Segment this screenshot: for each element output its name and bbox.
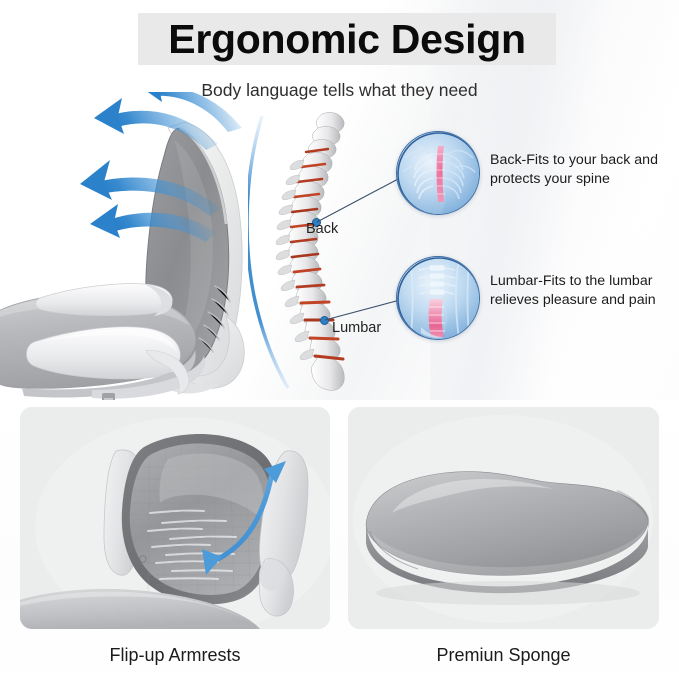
gas-cylinder bbox=[104, 398, 113, 400]
mesh-chair-back-icon bbox=[20, 407, 330, 629]
spine-anatomy-illustration bbox=[248, 108, 368, 393]
spine-label-back: Back bbox=[306, 221, 338, 237]
callout-text-lumbar: Lumbar-Fits to the lumbar relieves pleas… bbox=[490, 272, 679, 310]
feature-panel-armrests bbox=[20, 407, 330, 629]
infographic-root: Ergonomic Design Body language tells wha… bbox=[0, 0, 679, 692]
airflow-arrow-3 bbox=[80, 160, 220, 216]
feature-panel-sponge bbox=[348, 407, 659, 629]
feature-caption-armrests: Flip-up Armrests bbox=[20, 645, 330, 666]
seat-cushion-icon bbox=[348, 407, 659, 629]
vertebral-column bbox=[276, 112, 344, 390]
feature-caption-sponge: Premiun Sponge bbox=[348, 645, 659, 666]
spine-lumbar-xray-icon bbox=[396, 256, 480, 340]
callout-text-back: Back-Fits to your back and protects your… bbox=[490, 151, 679, 189]
airflow-arrows bbox=[30, 92, 260, 272]
airflow-arrow-4 bbox=[90, 204, 216, 242]
page-title: Ergonomic Design bbox=[138, 10, 556, 68]
spine-label-lumbar: Lumbar bbox=[332, 320, 381, 336]
spine-marker-lumbar-dot bbox=[320, 316, 329, 325]
spine-thoracic-xray-icon bbox=[396, 131, 480, 215]
